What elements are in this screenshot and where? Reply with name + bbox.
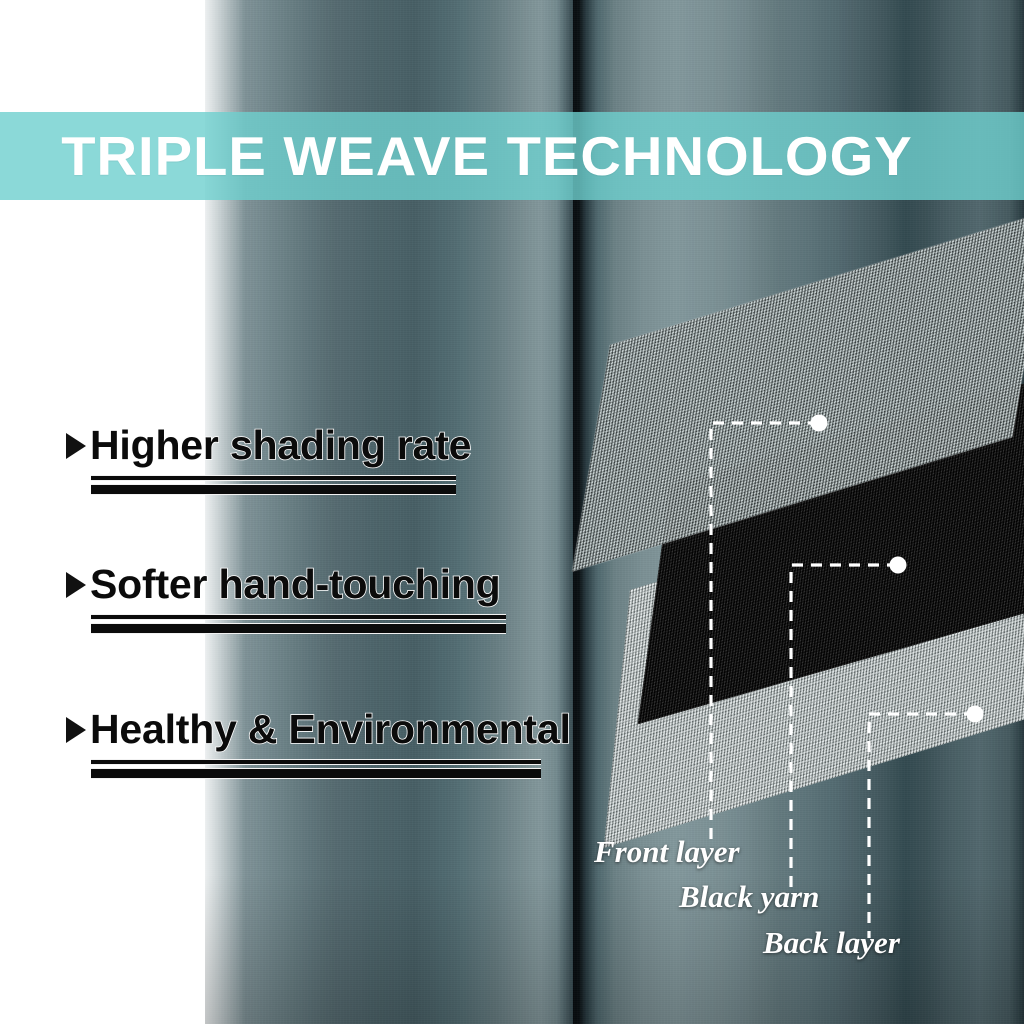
triangle-right-icon	[66, 717, 86, 743]
underline-thin-rule	[91, 759, 541, 765]
underline-thick-rule	[91, 623, 506, 634]
underline-thick-rule	[91, 768, 541, 779]
feature-underline	[91, 759, 541, 779]
product-infographic: Front layer Black yarn Back layer TRIPLE…	[0, 0, 1024, 1024]
feature-label: Softer hand-touching	[90, 563, 501, 606]
feature-item-higher-shading-rate: Higher shading rate	[66, 424, 471, 495]
triangle-right-icon	[66, 572, 86, 598]
feature-underline	[91, 614, 506, 634]
feature-label: Healthy & Environmental	[90, 708, 571, 751]
feature-item-healthy-environmental: Healthy & Environmental	[66, 708, 571, 779]
triangle-right-icon	[66, 433, 86, 459]
feature-label: Higher shading rate	[90, 424, 471, 467]
feature-underline	[91, 475, 456, 495]
feature-list: Higher shading rate Softer hand-touching…	[0, 0, 1024, 1024]
underline-thin-rule	[91, 614, 506, 620]
underline-thick-rule	[91, 484, 456, 495]
underline-thin-rule	[91, 475, 456, 481]
feature-item-softer-hand-touching: Softer hand-touching	[66, 563, 506, 634]
